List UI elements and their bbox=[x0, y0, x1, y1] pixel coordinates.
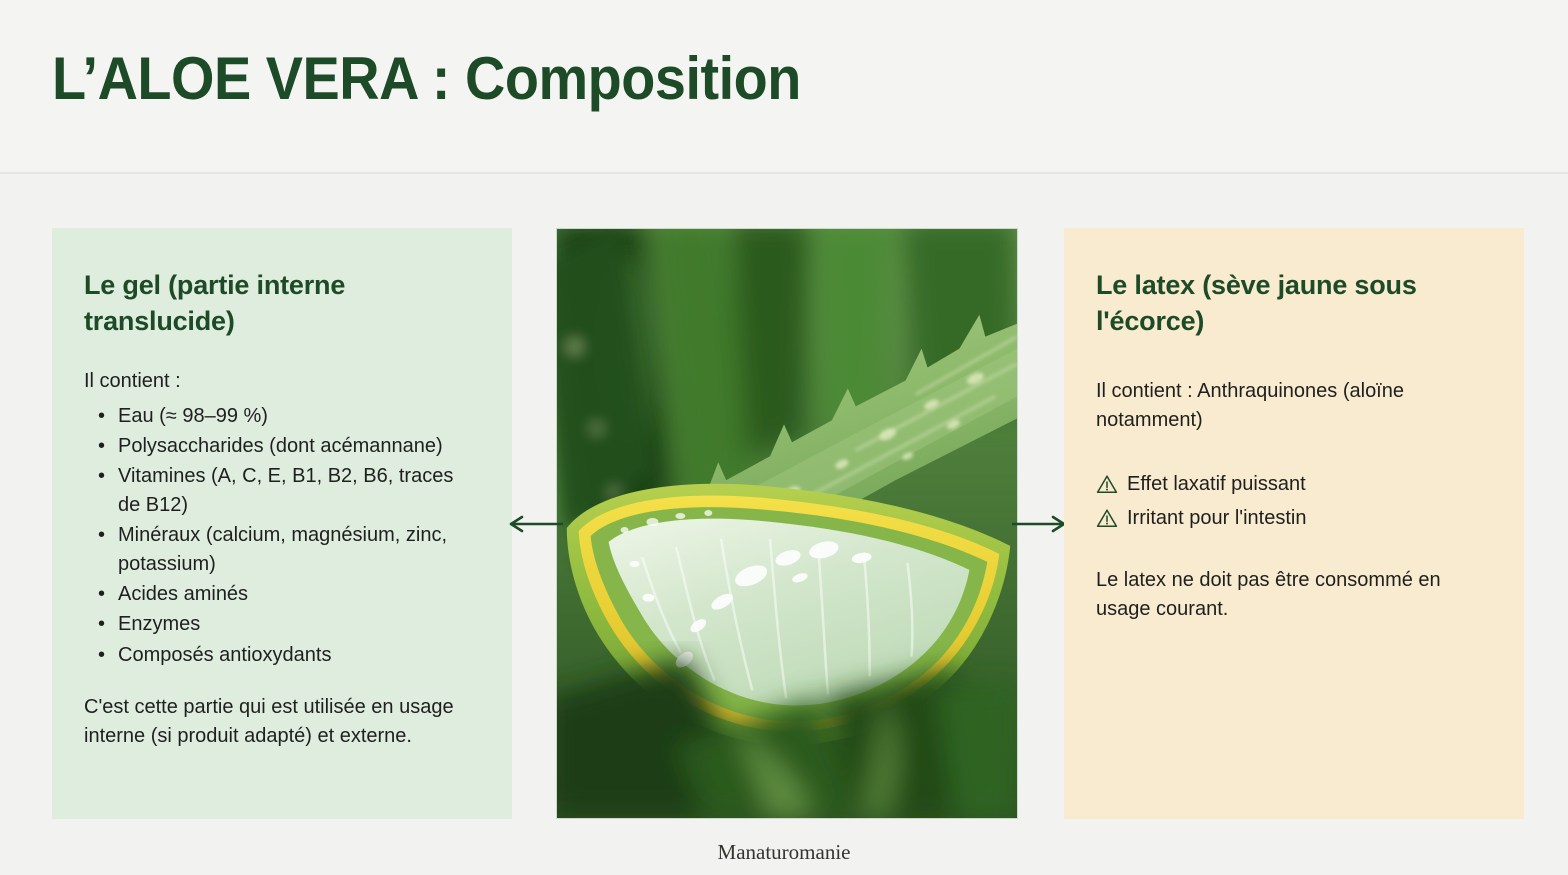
panel-latex-intro: Il contient : Anthraquinones (aloïne not… bbox=[1096, 377, 1490, 434]
warning-row: Effet laxatif puissant bbox=[1096, 470, 1490, 498]
panel-latex: Le latex (sève jaune sous l'écorce) Il c… bbox=[1064, 228, 1524, 819]
arrow-left-to-gel bbox=[505, 515, 565, 533]
list-item: Composés antioxydants bbox=[118, 641, 478, 669]
arrow-right-icon bbox=[1010, 515, 1070, 533]
panel-gel: Le gel (partie interne translucide) Il c… bbox=[52, 228, 512, 819]
content-stage: Le gel (partie interne translucide) Il c… bbox=[0, 174, 1568, 875]
source-caption: Manaturomanie bbox=[0, 840, 1568, 865]
warning-row: Irritant pour l'intestin bbox=[1096, 504, 1490, 532]
list-item: Polysaccharides (dont acémannane) bbox=[118, 432, 478, 460]
aloe-vera-photo bbox=[556, 228, 1018, 819]
warning-triangle-icon bbox=[1096, 474, 1118, 494]
warning-triangle-icon bbox=[1096, 508, 1118, 528]
list-item: Vitamines (A, C, E, B1, B2, B6, traces d… bbox=[118, 462, 478, 519]
panel-gel-intro: Il contient : bbox=[84, 367, 478, 395]
list-item: Minéraux (calcium, magnésium, zinc, pota… bbox=[118, 521, 478, 578]
aloe-photo-illustration bbox=[557, 229, 1017, 818]
panel-gel-bullet-list: Eau (≈ 98–99 %) Polysaccharides (dont ac… bbox=[84, 402, 478, 670]
panel-latex-footnote: Le latex ne doit pas être consommé en us… bbox=[1096, 566, 1490, 624]
page-title: L’ALOE VERA : Composition bbox=[52, 44, 801, 113]
list-item: Eau (≈ 98–99 %) bbox=[118, 402, 478, 430]
warning-text: Effet laxatif puissant bbox=[1127, 470, 1306, 498]
arrow-right-to-latex bbox=[1010, 515, 1070, 533]
latex-warning-list: Effet laxatif puissant Irritant pour l'i… bbox=[1096, 470, 1490, 532]
warning-text: Irritant pour l'intestin bbox=[1127, 504, 1306, 532]
panel-gel-footnote: C'est cette partie qui est utilisée en u… bbox=[84, 693, 478, 751]
list-item: Enzymes bbox=[118, 610, 478, 638]
page-header: L’ALOE VERA : Composition bbox=[0, 0, 1568, 174]
panel-latex-heading: Le latex (sève jaune sous l'écorce) bbox=[1096, 268, 1490, 339]
panel-gel-heading: Le gel (partie interne translucide) bbox=[84, 268, 478, 339]
arrow-left-icon bbox=[505, 515, 565, 533]
list-item: Acides aminés bbox=[118, 580, 478, 608]
